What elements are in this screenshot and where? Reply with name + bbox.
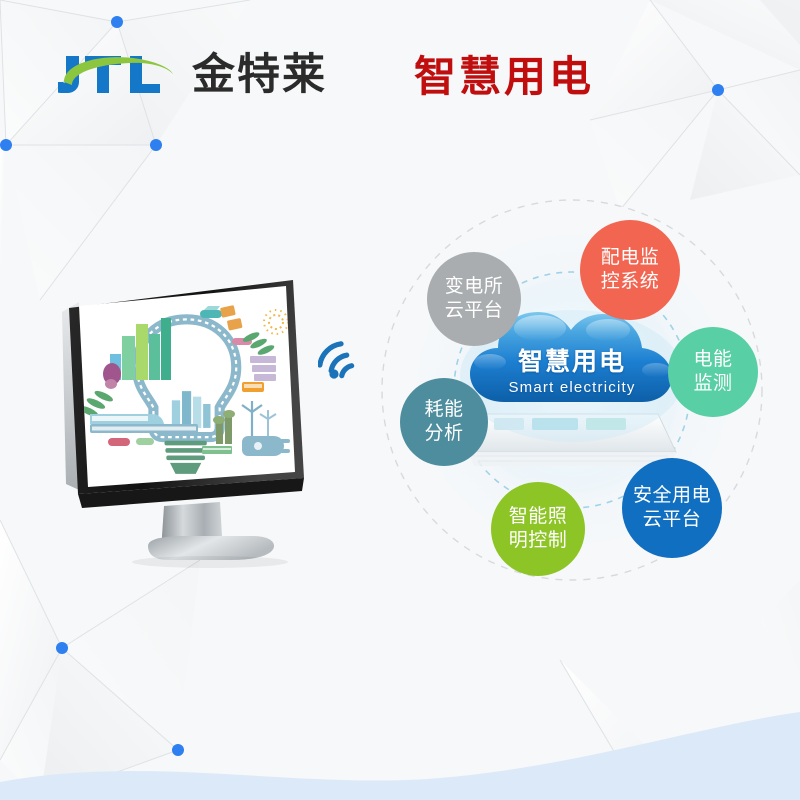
- bubble-line-1: 电能: [693, 348, 732, 372]
- bubble-line-1: 耗能: [424, 398, 463, 422]
- bubble-distribution-monitoring-system[interactable]: 配电监 控系统: [580, 220, 680, 320]
- brand-name-cn: 金特莱: [192, 54, 327, 97]
- wifi-signal-icon: [318, 332, 374, 388]
- bubble-line-1: 变电所: [445, 275, 504, 299]
- bubble-substation-cloud-platform[interactable]: 变电所 云平台: [427, 252, 521, 346]
- bubble-power-monitoring[interactable]: 电能 监测: [668, 327, 758, 417]
- bubble-line-2: 云平台: [643, 508, 702, 532]
- bubble-line-1: 安全用电: [633, 484, 711, 508]
- bubble-line-2: 明控制: [509, 529, 568, 553]
- smart-electricity-ecosystem-diagram: 智慧用电 Smart electricity 变电所 云平台 配电监 控系统 电…: [372, 190, 772, 590]
- bubble-energy-consumption-analysis[interactable]: 耗能 分析: [400, 378, 488, 466]
- page-title: 智慧用电: [414, 52, 594, 102]
- bubble-line-2: 云平台: [445, 299, 504, 323]
- bubble-line-2: 监测: [693, 372, 732, 396]
- brand-logo: 金特莱: [58, 44, 327, 106]
- bubble-safe-electricity-cloud-platform[interactable]: 安全用电 云平台: [622, 458, 722, 558]
- bubble-line-1: 智能照: [509, 505, 568, 529]
- page-root: 金特莱 智慧用电: [0, 0, 800, 800]
- bubble-line-2: 控系统: [601, 270, 660, 294]
- desktop-monitor: [52, 278, 332, 568]
- bubble-smart-lighting-control[interactable]: 智能照 明控制: [491, 482, 585, 576]
- bubble-line-1: 配电监: [601, 246, 660, 270]
- page-header: 金特莱 智慧用电: [0, 0, 800, 140]
- bubble-line-2: 分析: [424, 422, 463, 446]
- jtl-logo-icon: [58, 44, 178, 106]
- wifi-dot-icon: [329, 369, 338, 378]
